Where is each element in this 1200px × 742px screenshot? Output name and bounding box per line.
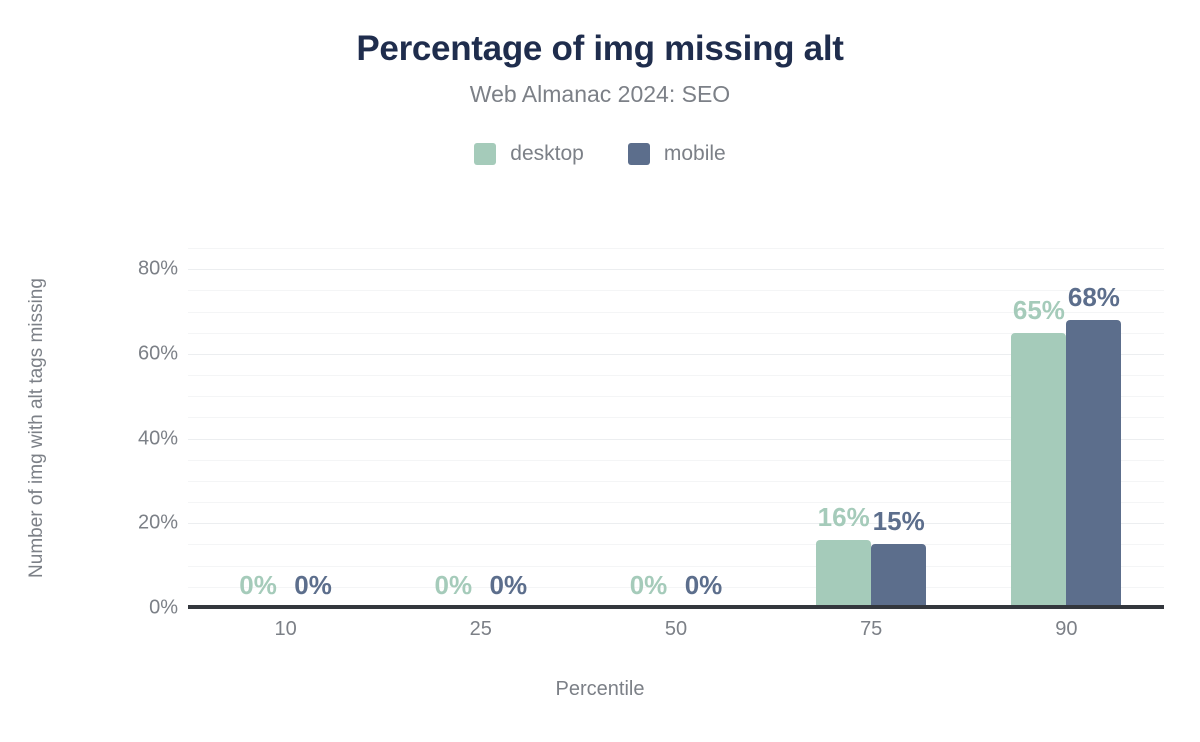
- x-tick-label: 90: [976, 618, 1156, 641]
- x-tick-label: 25: [391, 618, 571, 641]
- x-tick-label: 50: [586, 618, 766, 641]
- chart-title: Percentage of img missing alt: [0, 0, 1200, 69]
- bar-value-label-desktop-10: 0%: [239, 570, 277, 601]
- bar-mobile-75[interactable]: [871, 544, 926, 608]
- bar-value-label-desktop-25: 0%: [435, 570, 473, 601]
- gridline-minor: [188, 248, 1164, 249]
- bar-value-label-desktop-50: 0%: [630, 570, 668, 601]
- x-axis-title: Percentile: [0, 678, 1200, 701]
- chart-subtitle: Web Almanac 2024: SEO: [0, 69, 1200, 108]
- bar-value-label-mobile-50: 0%: [685, 570, 723, 601]
- legend-label-desktop: desktop: [510, 142, 584, 166]
- bar-value-label-mobile-75: 15%: [873, 506, 925, 537]
- bar-mobile-90[interactable]: [1066, 320, 1121, 608]
- legend-swatch-desktop: [474, 143, 496, 165]
- plot-area: 0%0%0%0%0%0%16%15%65%68%: [188, 248, 1164, 608]
- y-tick-label: 20%: [108, 512, 178, 535]
- bar-desktop-75[interactable]: [816, 540, 871, 608]
- legend-item-mobile[interactable]: mobile: [628, 142, 726, 166]
- bar-value-label-desktop-75: 16%: [818, 502, 870, 533]
- chart-legend: desktop mobile: [0, 142, 1200, 166]
- y-axis-title: Number of img with alt tags missing: [22, 248, 52, 608]
- x-axis-line: [188, 605, 1164, 609]
- x-tick-label: 10: [196, 618, 376, 641]
- legend-item-desktop[interactable]: desktop: [474, 142, 584, 166]
- chart-header: Percentage of img missing alt Web Almana…: [0, 0, 1200, 108]
- bar-value-label-desktop-90: 65%: [1013, 295, 1065, 326]
- gridline-major: [188, 269, 1164, 270]
- gridline-minor: [188, 290, 1164, 291]
- bar-value-label-mobile-25: 0%: [490, 570, 528, 601]
- y-axis-title-text: Number of img with alt tags missing: [26, 278, 48, 578]
- y-tick-label: 0%: [108, 597, 178, 620]
- bar-desktop-90[interactable]: [1011, 333, 1066, 608]
- y-tick-label: 40%: [108, 427, 178, 450]
- y-tick-label: 80%: [108, 258, 178, 281]
- bar-value-label-mobile-10: 0%: [294, 570, 332, 601]
- x-tick-label: 75: [781, 618, 961, 641]
- bar-value-label-mobile-90: 68%: [1068, 282, 1120, 313]
- legend-label-mobile: mobile: [664, 142, 726, 166]
- y-tick-label: 60%: [108, 342, 178, 365]
- legend-swatch-mobile: [628, 143, 650, 165]
